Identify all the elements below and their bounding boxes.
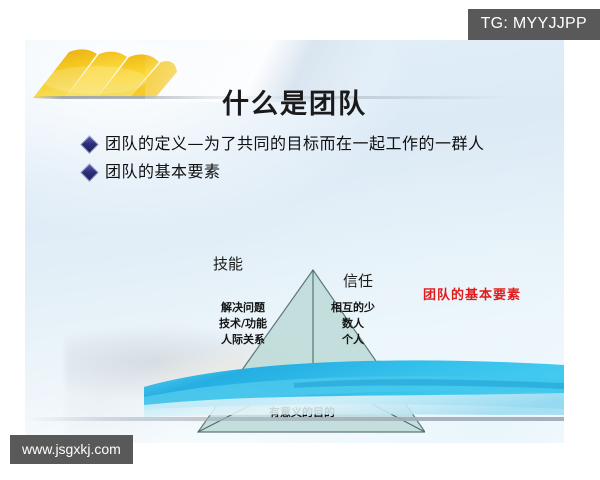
slide-bullet-list: 团队的定义—为了共同的目标而在一起工作的一群人 团队的基本要素: [83, 132, 553, 188]
triangle-skill-items: 解决问题技术/功能人际关系: [197, 300, 289, 348]
bullet-item: 团队的基本要素: [83, 160, 553, 184]
triangle-corner-label-trust: 信任: [343, 270, 373, 291]
triangle-corner-label-skill: 技能: [213, 253, 243, 274]
site-watermark-badge: www.jsgxkj.com: [10, 435, 133, 464]
bullet-text: 团队的定义—为了共同的目标而在一起工作的一群人: [105, 132, 485, 156]
presentation-slide: 什么是团队 团队的定义—为了共同的目标而在一起工作的一群人 团队的基本要素 技能…: [25, 40, 564, 443]
triangle-trust-items: 相互的少数人个人: [307, 300, 399, 348]
red-caption-text: 团队的基本要素: [423, 284, 521, 303]
tg-watermark-badge: TG: MYYJJPP: [468, 9, 600, 40]
bullet-text: 团队的基本要素: [105, 160, 221, 184]
bottom-divider-line: [25, 417, 564, 421]
diamond-bullet-icon: [80, 163, 98, 181]
blue-wave-decoration: [144, 353, 564, 443]
diamond-bullet-icon: [80, 135, 98, 153]
slide-title: 什么是团队: [25, 82, 564, 121]
screenshot-page: 什么是团队 团队的定义—为了共同的目标而在一起工作的一群人 团队的基本要素 技能…: [0, 0, 600, 480]
bullet-item: 团队的定义—为了共同的目标而在一起工作的一群人: [83, 132, 553, 156]
